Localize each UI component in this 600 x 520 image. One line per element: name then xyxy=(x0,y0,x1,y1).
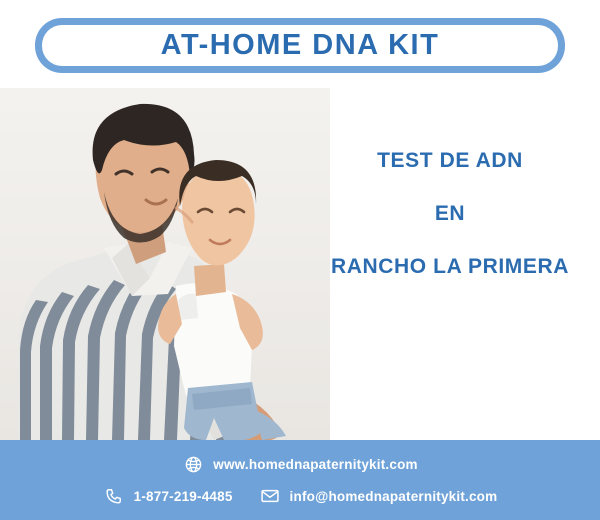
footer-row-contact: 1-877-219-4485 info@homednapaternitykit.… xyxy=(0,485,600,507)
page-title: AT-HOME DNA KIT xyxy=(161,29,440,62)
headline-line-2: EN xyxy=(300,203,600,224)
poster: AT-HOME DNA KIT xyxy=(0,0,600,520)
footer-bar: www.homednapaternitykit.com 1-877-219-44… xyxy=(0,440,600,520)
footer-phone[interactable]: 1-877-219-4485 xyxy=(103,485,233,507)
envelope-icon xyxy=(259,485,281,507)
footer-website[interactable]: www.homednapaternitykit.com xyxy=(182,453,417,475)
footer-website-text: www.homednapaternitykit.com xyxy=(213,457,417,472)
title-banner-inner: AT-HOME DNA KIT xyxy=(42,25,558,66)
footer-row-website: www.homednapaternitykit.com xyxy=(0,453,600,475)
headline-line-1: TEST DE ADN xyxy=(300,150,600,171)
family-photo xyxy=(0,88,330,440)
headline-line-3: RANCHO LA PRIMERA xyxy=(300,256,600,277)
footer-email-text: info@homednapaternitykit.com xyxy=(290,489,498,504)
globe-icon xyxy=(182,453,204,475)
family-photo-illustration xyxy=(0,88,330,440)
footer-email[interactable]: info@homednapaternitykit.com xyxy=(259,485,498,507)
title-banner: AT-HOME DNA KIT xyxy=(35,18,565,73)
footer-phone-text: 1-877-219-4485 xyxy=(134,489,233,504)
headline-block: TEST DE ADN EN RANCHO LA PRIMERA xyxy=(300,150,600,277)
phone-icon xyxy=(103,485,125,507)
